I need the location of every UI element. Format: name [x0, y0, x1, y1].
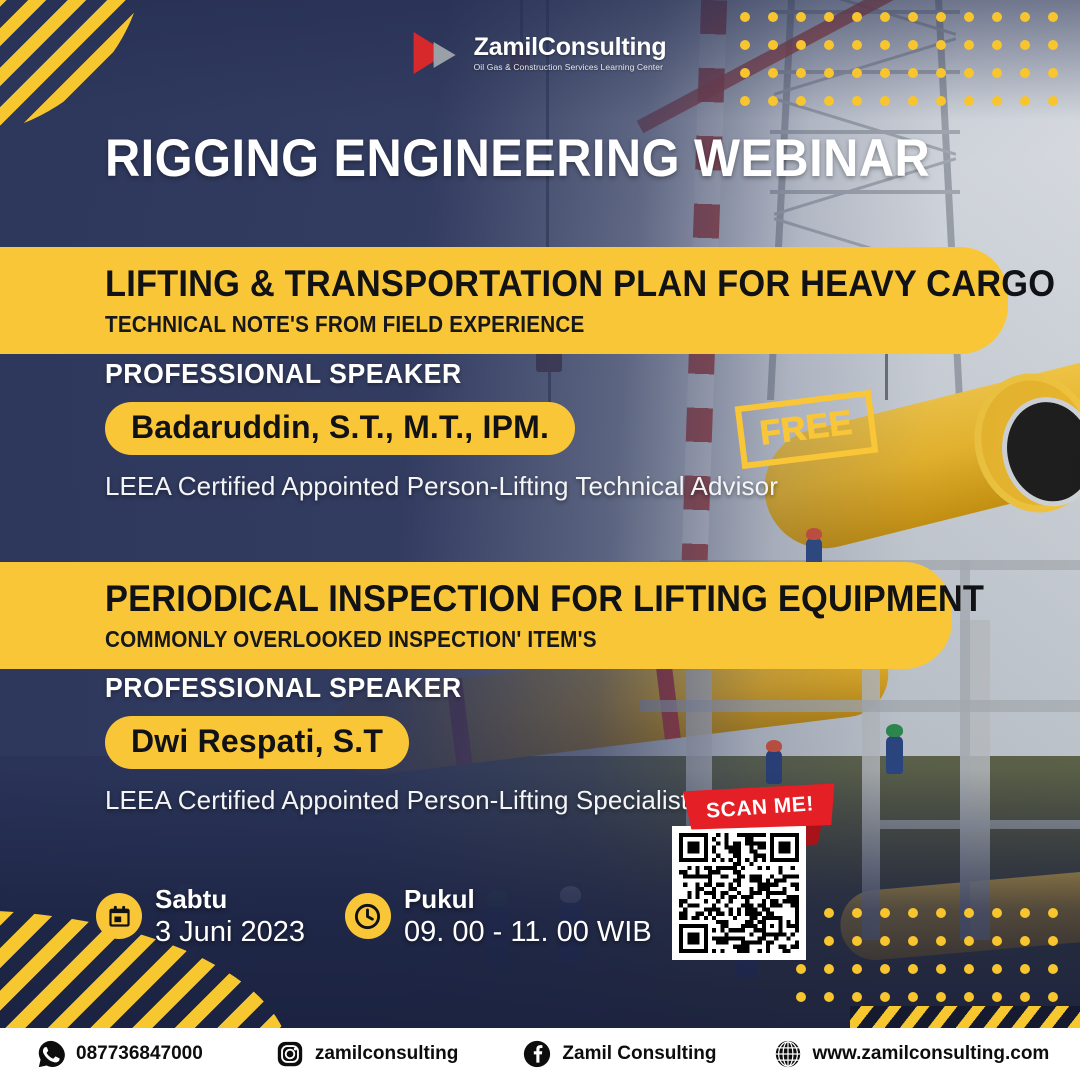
decor-dot	[908, 992, 918, 1002]
decor-dot	[964, 96, 974, 106]
decor-dot	[768, 68, 778, 78]
brand-logo: ZamilConsulting Oil Gas & Construction S…	[414, 30, 667, 76]
decor-dot	[1048, 96, 1058, 106]
speaker-block-2: PROFESSIONAL SPEAKER Dwi Respati, S.T LE…	[105, 672, 688, 816]
brand-tagline: Oil Gas & Construction Services Learning…	[474, 63, 667, 72]
decor-dot	[1048, 68, 1058, 78]
decor-dot	[936, 40, 946, 50]
decor-dot	[796, 992, 806, 1002]
decor-dot	[852, 936, 862, 946]
schedule-time-value: 09. 00 - 11. 00 WIB	[404, 915, 652, 949]
session-banner-1: LIFTING & TRANSPORTATION PLAN FOR HEAVY …	[0, 247, 1008, 354]
decor-dot	[824, 992, 834, 1002]
decor-dot	[992, 908, 1002, 918]
decor-dot	[768, 40, 778, 50]
schedule-date-value: 3 Juni 2023	[155, 915, 305, 949]
decor-dot	[740, 12, 750, 22]
session-banner-2: PERIODICAL INSPECTION FOR LIFTING EQUIPM…	[0, 562, 952, 669]
decor-dot	[880, 68, 890, 78]
facebook-icon	[522, 1039, 552, 1069]
decor-dot	[992, 936, 1002, 946]
decor-dot	[964, 936, 974, 946]
decor-dot	[964, 68, 974, 78]
webinar-poster: ZamilConsulting Oil Gas & Construction S…	[0, 0, 1080, 1080]
schedule-time: Pukul 09. 00 - 11. 00 WIB	[345, 884, 652, 949]
decor-dot	[852, 40, 862, 50]
schedule-date-label: Sabtu	[155, 884, 305, 915]
decor-dot	[936, 96, 946, 106]
decor-dot	[796, 96, 806, 106]
contact-whatsapp[interactable]: 087736847000	[36, 1039, 203, 1069]
qr-code[interactable]	[672, 826, 806, 960]
decor-dot	[852, 964, 862, 974]
decor-dot	[992, 40, 1002, 50]
contact-instagram-label: zamilconsulting	[315, 1043, 459, 1065]
decor-dot	[852, 908, 862, 918]
free-badge-label: FREE	[758, 404, 855, 453]
decor-dot	[964, 964, 974, 974]
schedule-date: Sabtu 3 Juni 2023	[96, 884, 305, 949]
scan-me-block[interactable]: SCAN ME!	[672, 786, 836, 960]
decor-dot	[852, 12, 862, 22]
decor-dot	[992, 68, 1002, 78]
decor-dot	[824, 68, 834, 78]
decor-dot	[964, 12, 974, 22]
decor-dot	[796, 12, 806, 22]
whatsapp-icon	[36, 1039, 66, 1069]
contact-instagram[interactable]: zamilconsulting	[275, 1039, 459, 1069]
decor-dot	[880, 936, 890, 946]
decor-dot	[908, 68, 918, 78]
decor-dot	[1020, 908, 1030, 918]
stripe-strip-bottom-right	[850, 1006, 1080, 1028]
decor-dot	[1048, 936, 1058, 946]
contact-whatsapp-label: 087736847000	[76, 1043, 203, 1065]
decor-dot	[936, 908, 946, 918]
decor-dot	[992, 12, 1002, 22]
decor-dot	[992, 964, 1002, 974]
decor-dot	[1020, 936, 1030, 946]
qr-code-image	[679, 833, 799, 953]
decor-dot	[880, 96, 890, 106]
decor-dot	[908, 964, 918, 974]
decor-dot	[936, 68, 946, 78]
decor-dot	[740, 96, 750, 106]
clock-icon	[345, 893, 391, 939]
decor-dot	[964, 908, 974, 918]
decor-dot	[740, 40, 750, 50]
contact-facebook-label: Zamil Consulting	[562, 1043, 716, 1065]
decor-dot	[908, 40, 918, 50]
speaker-1-label: PROFESSIONAL SPEAKER	[105, 358, 744, 390]
decor-dot	[936, 12, 946, 22]
speaker-2-pill: Dwi Respati, S.T	[105, 716, 409, 769]
decor-dot	[880, 908, 890, 918]
calendar-icon	[96, 893, 142, 939]
decor-dot	[936, 992, 946, 1002]
speaker-2-label: PROFESSIONAL SPEAKER	[105, 672, 659, 704]
scan-me-label: SCAN ME!	[705, 792, 814, 823]
contact-website[interactable]: www.zamilconsulting.com	[773, 1039, 1050, 1069]
decor-dot	[740, 68, 750, 78]
speaker-2-role: LEEA Certified Appointed Person-Lifting …	[105, 785, 688, 816]
decor-dot	[824, 40, 834, 50]
decor-dot	[852, 96, 862, 106]
decor-dot	[1048, 992, 1058, 1002]
contact-facebook[interactable]: Zamil Consulting	[522, 1039, 716, 1069]
decor-dot	[908, 908, 918, 918]
decor-dot	[824, 964, 834, 974]
speaker-1-role: LEEA Certified Appointed Person-Lifting …	[105, 471, 778, 502]
decor-dot	[768, 96, 778, 106]
decor-dot	[880, 992, 890, 1002]
contact-website-label: www.zamilconsulting.com	[813, 1043, 1050, 1065]
decor-dot	[1020, 96, 1030, 106]
decor-dot	[1048, 40, 1058, 50]
decor-dot	[964, 40, 974, 50]
instagram-icon	[275, 1039, 305, 1069]
dot-grid-top-right	[740, 12, 1058, 106]
decor-dot	[1020, 68, 1030, 78]
decor-dot	[880, 12, 890, 22]
decor-dot	[824, 12, 834, 22]
decor-dot	[1020, 964, 1030, 974]
decor-dot	[1020, 992, 1030, 1002]
speaker-1-pill: Badaruddin, S.T., M.T., IPM.	[105, 402, 575, 455]
decor-dot	[908, 96, 918, 106]
decor-dot	[796, 964, 806, 974]
decor-dot	[852, 68, 862, 78]
speaker-block-1: PROFESSIONAL SPEAKER Badaruddin, S.T., M…	[105, 358, 778, 502]
decor-dot	[964, 992, 974, 1002]
footer-contact-bar: 087736847000 zamilconsulting Zamil Consu…	[0, 1028, 1080, 1080]
decor-dot	[796, 68, 806, 78]
decor-dot	[852, 992, 862, 1002]
session-2-subtitle: COMMONLY OVERLOOKED INSPECTION' ITEM'S	[105, 626, 813, 653]
decor-dot	[936, 936, 946, 946]
decor-dot	[796, 40, 806, 50]
decor-dot	[824, 96, 834, 106]
schedule-row: Sabtu 3 Juni 2023 Pukul 09. 00 - 11. 00 …	[96, 884, 652, 949]
page-title: RIGGING ENGINEERING WEBINAR	[105, 128, 930, 189]
decor-dot	[880, 964, 890, 974]
decor-dot	[880, 40, 890, 50]
decor-dot	[1048, 964, 1058, 974]
session-2-title: PERIODICAL INSPECTION FOR LIFTING EQUIPM…	[105, 578, 837, 620]
decor-dot	[908, 936, 918, 946]
decor-dot	[992, 96, 1002, 106]
decor-dot	[1020, 40, 1030, 50]
decor-dot	[908, 12, 918, 22]
play-triangle-icon	[414, 30, 466, 76]
session-1-subtitle: TECHNICAL NOTE'S FROM FIELD EXPERIENCE	[105, 311, 864, 338]
decor-dot	[936, 964, 946, 974]
speaker-1-name: Badaruddin, S.T., M.T., IPM.	[131, 409, 549, 446]
schedule-time-label: Pukul	[404, 884, 652, 915]
decor-dot	[992, 992, 1002, 1002]
speaker-2-name: Dwi Respati, S.T	[131, 723, 383, 760]
decor-dot	[768, 12, 778, 22]
decor-dot	[1020, 12, 1030, 22]
decor-dot	[1048, 908, 1058, 918]
globe-icon	[773, 1039, 803, 1069]
brand-name: ZamilConsulting	[474, 35, 667, 60]
session-1-title: LIFTING & TRANSPORTATION PLAN FOR HEAVY …	[105, 263, 889, 305]
decor-dot	[1048, 12, 1058, 22]
